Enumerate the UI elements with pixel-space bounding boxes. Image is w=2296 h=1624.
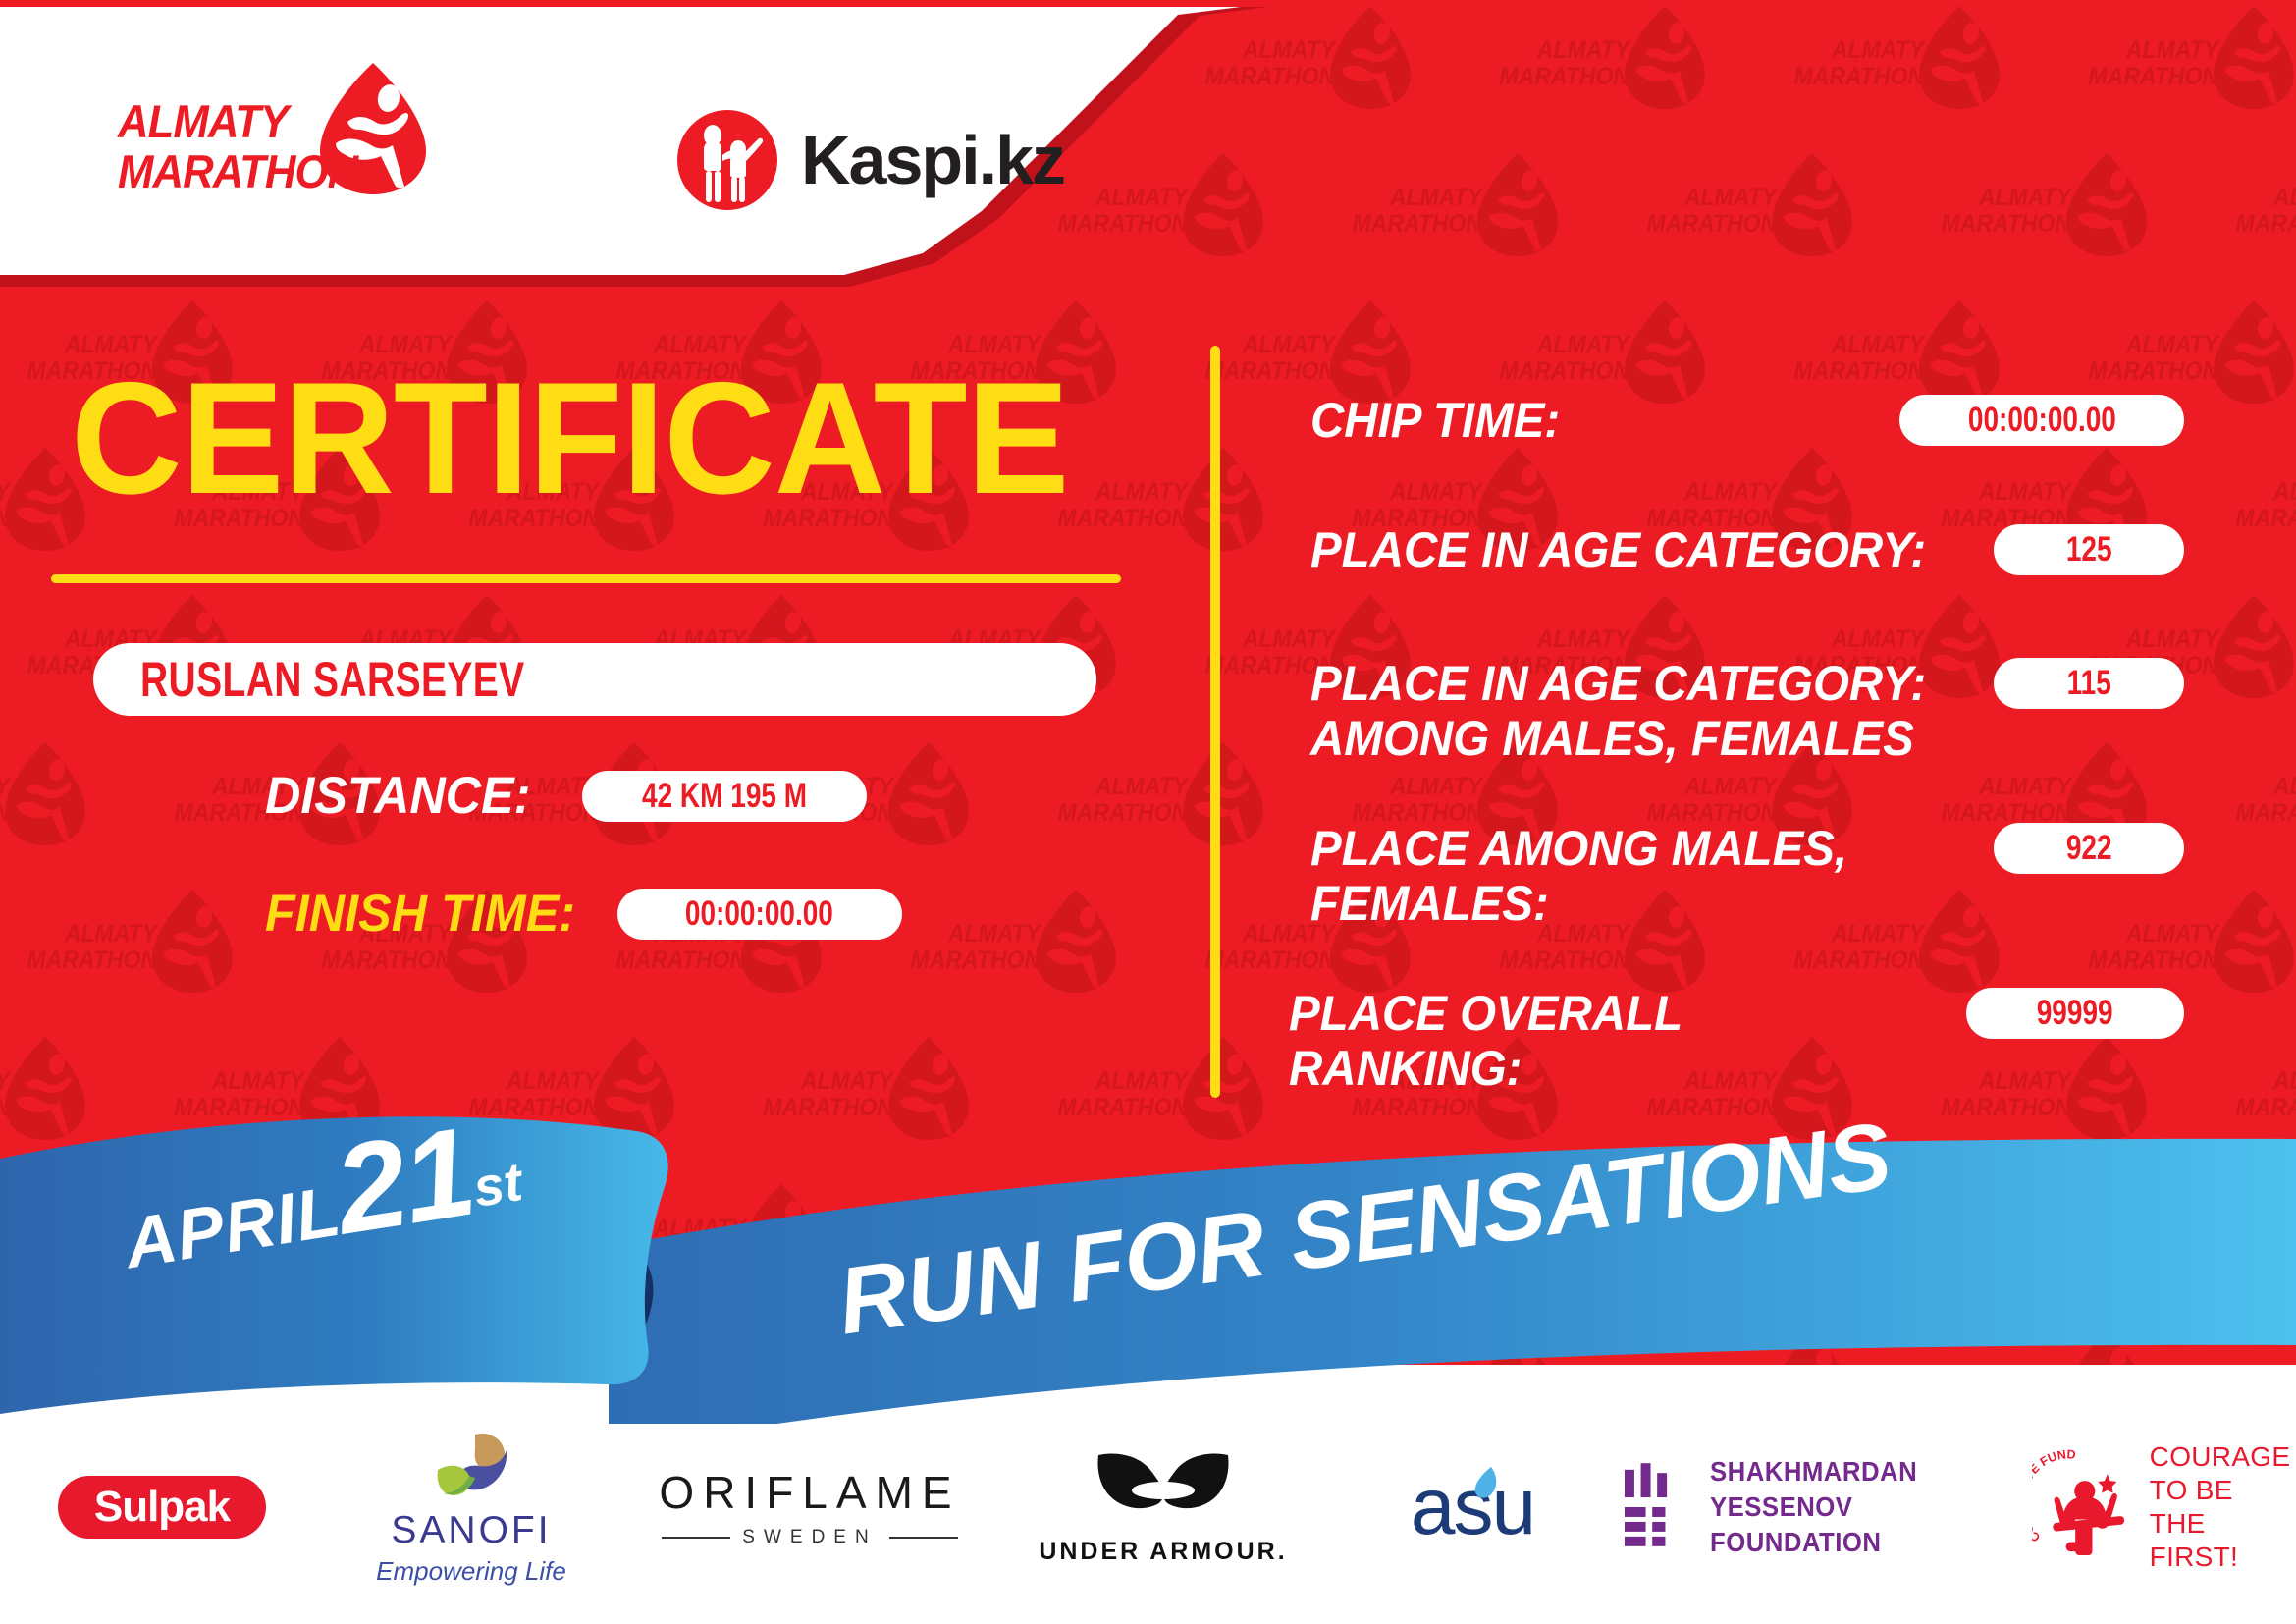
yessenov-line-1: SHAKHMARDAN YESSENOV xyxy=(1710,1454,2006,1525)
finish-time-value: 00:00:00.00 xyxy=(685,894,833,934)
sanofi-lockup: SANOFI Empowering Life xyxy=(376,1429,566,1587)
place-age-category-among-value: 115 xyxy=(2066,664,2110,703)
asu-lockup: asu xyxy=(1411,1467,1534,1547)
under-armour-lockup: UNDER ARMOUR. xyxy=(1039,1449,1287,1566)
logo-line-1: ALMATY xyxy=(118,96,364,146)
almaty-marathon-logo: ALMATY MARATHON xyxy=(118,61,442,198)
top-rule xyxy=(0,0,2296,7)
kaspi-circle-icon xyxy=(677,110,777,210)
sanofi-label: SANOFI xyxy=(391,1509,551,1552)
place-overall-ranking-label: PLACE OVERALL RANKING: xyxy=(1289,986,1904,1096)
sponsor-asu: asu xyxy=(1325,1467,1620,1547)
sanofi-tagline: Empowering Life xyxy=(376,1556,566,1587)
event-month: APRIL xyxy=(120,1172,347,1284)
under-armour-label: UNDER ARMOUR. xyxy=(1039,1538,1287,1566)
place-among-males-females-label: PLACE AMONG MALES, FEMALES: xyxy=(1310,821,1889,931)
place-age-category-among-value-pill: 115 xyxy=(1994,658,2184,709)
label-line-1: PLACE AMONG MALES, xyxy=(1310,821,1889,876)
finish-time-value-pill: 00:00:00.00 xyxy=(617,889,902,940)
logo-line-2: MARATHON xyxy=(118,146,364,196)
sponsor-under-armour: UNDER ARMOUR. xyxy=(1001,1449,1325,1566)
yessenov-line-2: FOUNDATION xyxy=(1710,1525,2006,1560)
label-line-2: FEMALES: xyxy=(1310,876,1889,931)
kaspi-wordmark: Kaspi.kz xyxy=(801,121,1064,199)
place-overall-ranking-value: 99999 xyxy=(2037,994,2113,1033)
sponsor-oriflame: ORIFLAME SWEDEN xyxy=(618,1466,1001,1548)
oriflame-rule-left xyxy=(662,1537,730,1539)
courage-line-3: THE FIRST! xyxy=(2150,1507,2296,1574)
page-title: CERTIFICATE xyxy=(71,359,1080,518)
sulpak-badge: Sulpak xyxy=(58,1476,266,1539)
courage-line-2: TO BE xyxy=(2150,1474,2296,1507)
right-panel: CHIP TIME: 00:00:00.00 PLACE IN AGE CATE… xyxy=(1220,295,2296,1100)
sulpak-label: Sulpak xyxy=(94,1483,230,1532)
runner-name-field: RUSLAN SARSEYEV xyxy=(93,643,1096,716)
label-line-2: AMONG MALES, FEMALES xyxy=(1310,711,1945,766)
courage-line-1: COURAGE xyxy=(2150,1440,2296,1474)
title-underline xyxy=(51,574,1121,583)
under-armour-icon xyxy=(1095,1449,1232,1534)
oriflame-rule-right xyxy=(889,1537,958,1539)
place-age-category-value: 125 xyxy=(2066,530,2112,569)
place-age-category-among-label: PLACE IN AGE CATEGORY: AMONG MALES, FEMA… xyxy=(1310,656,1945,766)
finish-time-row: FINISH TIME: 00:00:00.00 xyxy=(265,884,902,944)
place-among-males-females-value-pill: 922 xyxy=(1994,823,2184,874)
distance-label: DISTANCE: xyxy=(265,766,530,826)
oriflame-lockup: ORIFLAME SWEDEN xyxy=(659,1466,960,1548)
sponsor-courage: CORPORATE FUND COURAGE TO BE THE FIRST! xyxy=(2032,1440,2296,1574)
sponsor-sanofi: SANOFI Empowering Life xyxy=(324,1429,618,1587)
courage-lockup: CORPORATE FUND COURAGE TO BE THE FIRST! xyxy=(2032,1440,2296,1574)
chip-time-value-pill: 00:00:00.00 xyxy=(1899,395,2184,446)
place-age-category-value-pill: 125 xyxy=(1994,524,2184,575)
event-day-suffix: st xyxy=(469,1151,526,1218)
certificate-canvas: ALMATYMARATHONALMATYMARATHONALMATYMARATH… xyxy=(0,0,2296,1624)
oriflame-label: ORIFLAME xyxy=(659,1466,960,1519)
event-ribbon: APRIL21st RUN FOR SENSATIONS xyxy=(0,1100,2296,1424)
distance-value: 42 KM 195 M xyxy=(642,777,807,816)
kaspi-logo: Kaspi.kz xyxy=(677,106,1090,214)
sponsor-sulpak: Sulpak xyxy=(0,1476,324,1539)
chip-time-label: CHIP TIME: xyxy=(1310,393,1870,448)
almaty-marathon-wordmark: ALMATY MARATHON xyxy=(118,96,364,196)
asu-leaf-icon xyxy=(1468,1465,1501,1504)
oriflame-sub-row: SWEDEN xyxy=(662,1527,957,1548)
distance-value-pill: 42 KM 195 M xyxy=(582,771,867,822)
place-among-males-females-value: 922 xyxy=(2066,829,2112,868)
distance-row: DISTANCE: 42 KM 195 M xyxy=(265,766,867,826)
place-age-category-label: PLACE IN AGE CATEGORY: xyxy=(1310,522,1945,577)
place-overall-ranking-value-pill: 99999 xyxy=(1966,988,2184,1039)
yessenov-bars-icon xyxy=(1620,1452,1686,1562)
chip-time-value: 00:00:00.00 xyxy=(1967,401,2115,440)
vertical-divider xyxy=(1210,346,1220,1098)
finish-time-label: FINISH TIME: xyxy=(265,884,575,944)
runner-name-value: RUSLAN SARSEYEV xyxy=(140,651,525,708)
oriflame-sub: SWEDEN xyxy=(742,1527,877,1548)
svg-text:CORPORATE FUND: CORPORATE FUND xyxy=(2032,1449,2076,1544)
sanofi-bird-icon xyxy=(424,1429,518,1507)
sponsor-strip: Sulpak SANOFI Empowering Life ORIFLAME xyxy=(0,1394,2296,1620)
courage-text: COURAGE TO BE THE FIRST! xyxy=(2150,1440,2296,1574)
label-line-1: PLACE IN AGE CATEGORY: xyxy=(1310,656,1945,711)
courage-runner-icon: CORPORATE FUND xyxy=(2032,1449,2136,1565)
sponsor-yessenov: SHAKHMARDAN YESSENOV FOUNDATION xyxy=(1620,1452,2032,1562)
left-panel: CERTIFICATE RUSLAN SARSEYEV DISTANCE: 42… xyxy=(0,295,1178,1100)
yessenov-text: SHAKHMARDAN YESSENOV FOUNDATION xyxy=(1710,1454,2006,1560)
event-day: 21 xyxy=(326,1102,482,1262)
yessenov-lockup: SHAKHMARDAN YESSENOV FOUNDATION xyxy=(1620,1452,2032,1562)
